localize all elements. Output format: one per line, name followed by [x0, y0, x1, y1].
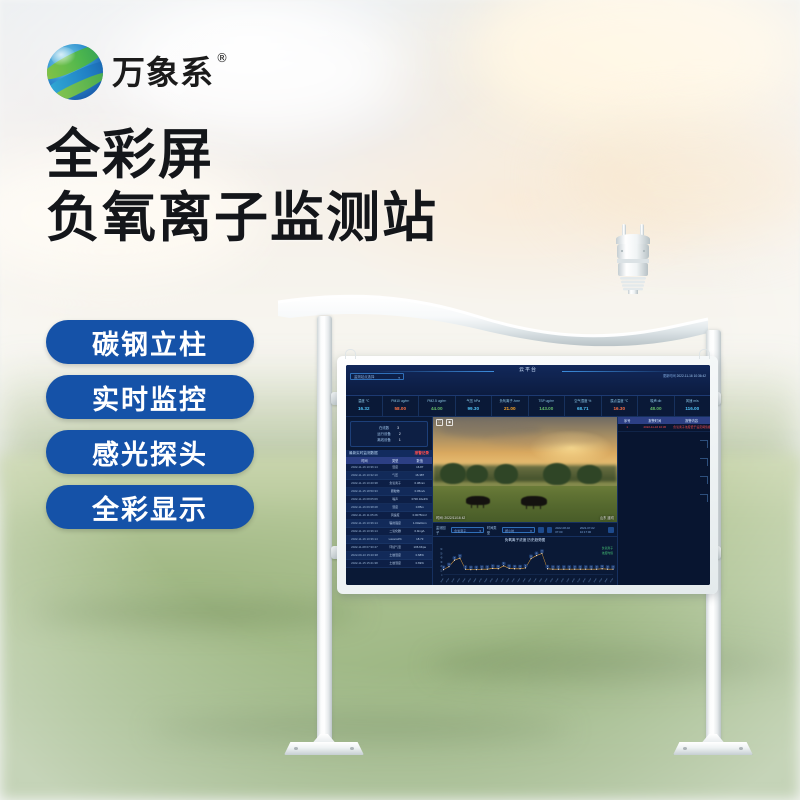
svg-text:01:00: 01:00 [577, 578, 580, 583]
alarm-panel: 序号报警时间报警内容 12022-11-16 10:36负氧离子浓度低于设定阈值… [617, 417, 710, 585]
svg-text:39: 39 [459, 555, 460, 557]
svg-text:34: 34 [454, 557, 455, 559]
svg-text:13: 13 [612, 566, 613, 568]
monitoring-station-product: 云平台 监测站点选择 ▾ 更新时间 2022-11-16 10:36:42 温度… [0, 0, 800, 800]
svg-text:16: 16 [525, 565, 526, 567]
svg-text:04:00: 04:00 [463, 578, 466, 583]
table-cell: 辐射强度 [383, 521, 408, 526]
metric-cell: 风速 m/s116.00 [675, 396, 711, 416]
table-row[interactable]: 2022-11-16 09:38:28湿度0.85m [346, 504, 432, 512]
svg-text:06:00: 06:00 [605, 578, 608, 583]
device-stats-box: 在线数3运行设备2离线设备1 [350, 421, 428, 447]
cow-silhouette [521, 496, 547, 507]
svg-text:06:00: 06:00 [473, 578, 476, 583]
svg-text:07:00: 07:00 [610, 578, 613, 583]
table-cell: 颗粒物 [383, 489, 408, 494]
svg-text:13: 13 [580, 566, 581, 568]
table-row[interactable]: 2022-11-16 10:36:14辐射强度1.03a0mm [346, 520, 432, 528]
log-table-columns: 时间类型数值 [346, 457, 432, 464]
legend-entry: 浓度均值 [602, 551, 613, 555]
svg-text:38: 38 [530, 556, 531, 558]
dashboard-body: 在线数3运行设备2离线设备1 最新实时监测数据 报警记录 时间类型数值 2022… [346, 417, 710, 585]
table-cell: 2022-11-16 10:36:14 [346, 521, 383, 526]
alarm-cell: 1 [618, 425, 636, 430]
metric-cell: 温度 ℃16.32 [346, 396, 383, 416]
svg-text:14: 14 [547, 566, 548, 568]
metric-cell: PM2.5 ug/m³44.00 [419, 396, 456, 416]
frame-hook [699, 349, 710, 359]
svg-text:50: 50 [541, 551, 542, 553]
fullscreen-icon[interactable]: ⛶ [436, 419, 443, 426]
chart-title: 负氧离子浓度 历史趋势图 [433, 537, 617, 544]
stat-row: 离线设备1 [353, 437, 425, 443]
svg-text:05:00: 05:00 [468, 578, 471, 583]
column-header: 数值 [407, 458, 432, 463]
table-cell: 16.87 [407, 465, 432, 470]
table-cell: 2022-11-15 18:50:33 [346, 489, 383, 494]
svg-text:22:00: 22:00 [561, 578, 564, 583]
table-row[interactable]: 2022-11-16 10:36:14温度16.87 [346, 464, 432, 472]
table-cell: 0.0075Cm² [407, 513, 432, 518]
product-marketing-image: 万象系® 全彩屏 负氧离子监测站 碳钢立柱 实时监控 感光探头 全彩显示 [0, 0, 800, 800]
svg-text:01:00: 01:00 [446, 578, 449, 583]
table-cell: 土壤湿度 [383, 561, 408, 566]
left-panel: 在线数3运行设备2离线设备1 最新实时监测数据 报警记录 时间类型数值 2022… [346, 417, 433, 585]
chart-legend: 负氧离子浓度均值 [602, 546, 613, 555]
chart-end-date[interactable]: 2022-07-02 10:17:00 [580, 526, 605, 534]
station-select[interactable]: 监测站点选择 ▾ [350, 373, 404, 380]
table-cell: 2022-11-16 10:40:38 [346, 481, 383, 486]
svg-text:13: 13 [563, 566, 564, 568]
carbon-steel-post-left [317, 316, 332, 746]
alarm-empty-area [618, 432, 710, 585]
metric-value: 58.00 [383, 404, 419, 413]
svg-text:0: 0 [441, 575, 443, 577]
table-cell: 负氧离子 [383, 481, 408, 486]
table-cell: 2022-11-16 08:05:09 [346, 497, 383, 502]
download-icon[interactable] [547, 527, 553, 533]
live-camera-feed[interactable]: ⛶ ◉ 时间: 2022/11/16 42 山东 潍坊 [433, 417, 617, 522]
log-panel-title: 最新实时监测数据 [349, 451, 378, 456]
metric-value: 16.30 [602, 404, 638, 413]
table-cell: 2022-09-13 15:20:38 [346, 553, 383, 558]
alarm-table-body[interactable]: 12022-11-16 10:36负氧离子浓度低于设定阈值报警 [618, 424, 710, 432]
led-display-frame: 云平台 监测站点选择 ▾ 更新时间 2022-11-16 10:36:42 温度… [337, 356, 718, 594]
table-cell: 二氧化碳 [383, 529, 408, 534]
query-button[interactable] [608, 527, 614, 533]
table-cell: 2022-11-16 10:36:14 [346, 465, 383, 470]
dashboard-title: 云平台 [346, 366, 710, 373]
svg-text:21:00: 21:00 [555, 578, 558, 583]
alarm-table-columns: 序号报警时间报警内容 [618, 417, 710, 424]
svg-text:14: 14 [498, 566, 499, 568]
table-cell: 2022-11-16 11:05:26 [346, 513, 383, 518]
svg-text:09:00: 09:00 [490, 578, 493, 583]
metric-cell: 气压 hPa99.30 [456, 396, 493, 416]
chevron-down-icon: ▾ [479, 528, 481, 534]
ultrasonic-weather-sensor-icon [604, 222, 662, 294]
table-row[interactable]: 2022-11-16 10:32:10气压16.387 [346, 472, 432, 480]
svg-text:03:00: 03:00 [588, 578, 591, 583]
period-label: 时间类型 [487, 525, 499, 535]
alarm-cell: 2022-11-16 10:36 [636, 425, 673, 430]
table-cell: voice/s2% [383, 537, 408, 542]
table-view-icon[interactable] [538, 527, 544, 533]
table-cell: 气压 [383, 473, 408, 478]
svg-text:13: 13 [607, 566, 608, 568]
svg-text:50: 50 [440, 553, 442, 555]
table-cell: 106.6Kpa [407, 545, 432, 550]
table-cell: 16.387 [407, 473, 432, 478]
svg-text:14: 14 [519, 566, 520, 568]
svg-text:13: 13 [574, 566, 575, 568]
cow-silhouette [466, 496, 490, 505]
metric-strip: 温度 ℃16.32PM10 ug/m³58.00PM2.5 ug/m³44.00… [346, 396, 710, 417]
svg-text:60: 60 [440, 549, 442, 551]
table-cell: 风速度 [383, 513, 408, 518]
svg-text:23:00: 23:00 [566, 578, 569, 583]
svg-text:13: 13 [487, 566, 488, 568]
table-cell: 2022-11-16 09:38:28 [346, 505, 383, 510]
table-cell: 2022-11-15 15:41:38 [346, 561, 383, 566]
metric-value: 48.00 [638, 404, 674, 413]
column-header: 时间 [346, 458, 383, 463]
table-cell: 2022-11-16 10:32:10 [346, 473, 383, 478]
metric-value: 116.00 [675, 404, 711, 413]
metric-value: 143.00 [529, 404, 565, 413]
svg-text:11:00: 11:00 [501, 578, 504, 583]
log-table-body[interactable]: 2022-11-16 10:36:14温度16.872022-11-16 10:… [346, 464, 432, 585]
period-select[interactable]: 按小时▾ [502, 527, 535, 533]
svg-text:10: 10 [440, 570, 442, 572]
factor-label: 监测因子 [436, 525, 448, 535]
flange-base-plate-left [284, 734, 364, 756]
log-panel-header: 最新实时监测数据 报警记录 [346, 450, 432, 457]
chart-start-date[interactable]: 2022-08-02 07:00 [555, 526, 577, 534]
wave-canopy [276, 286, 710, 352]
svg-text:45: 45 [536, 553, 537, 555]
metric-value: 44.00 [419, 404, 455, 413]
svg-text:08:00: 08:00 [484, 578, 487, 583]
table-cell: 0.85m [407, 505, 432, 510]
table-row[interactable]: 2022-11-16 11:05:26风速度0.0075Cm² [346, 512, 432, 520]
svg-text:17:00: 17:00 [534, 578, 537, 583]
svg-text:02:00: 02:00 [452, 578, 455, 583]
table-cell: 噪声 [383, 497, 408, 502]
svg-text:00:00: 00:00 [572, 578, 575, 583]
svg-text:14: 14 [601, 566, 602, 568]
table-cell: 土壤温度 [383, 553, 408, 558]
update-timestamp: 更新时间 2022-11-16 10:36:42 [663, 373, 706, 378]
table-cell: 18.73 [407, 537, 432, 542]
metric-value: 99.30 [456, 404, 492, 413]
table-row[interactable]: 2022-11-15 18:50:33颗粒物0.05m/s [346, 488, 432, 496]
metric-cell: PM10 ug/m³58.00 [383, 396, 420, 416]
metric-cell: TSP ug/m³143.00 [529, 396, 566, 416]
svg-text:13: 13 [552, 566, 553, 568]
snapshot-icon[interactable]: ◉ [446, 419, 453, 426]
table-row[interactable]: 2022-11-16 08:05:09噪声0730.16e3% [346, 496, 432, 504]
svg-text:30: 30 [440, 562, 442, 564]
svg-text:04:00: 04:00 [594, 578, 597, 583]
svg-text:00:00: 00:00 [441, 578, 444, 583]
chart-plot-area: 60504030201001200:001901:003402:003903:0… [433, 544, 617, 585]
svg-text:15:00: 15:00 [523, 578, 526, 583]
column-header: 报警内容 [673, 418, 710, 423]
svg-text:13: 13 [590, 566, 591, 568]
metric-cell: 负氧离子 /cm³21.00 [492, 396, 529, 416]
table-cell: 环境气温 [383, 545, 408, 550]
svg-text:21: 21 [503, 563, 504, 565]
dashboard-header: 云平台 监测站点选择 ▾ 更新时间 2022-11-16 10:36:42 [346, 365, 710, 396]
alarm-cell: 负氧离子浓度低于设定阈值报警 [673, 425, 710, 430]
svg-text:02:00: 02:00 [583, 578, 586, 583]
chevron-down-icon: ▾ [530, 528, 532, 534]
table-cell: 湿度 [383, 505, 408, 510]
table-cell: 0.38mm [407, 481, 432, 486]
table-cell: 0.68% [407, 553, 432, 558]
svg-text:18:00: 18:00 [539, 578, 542, 583]
table-cell: 0.05m/s [407, 489, 432, 494]
table-cell: 2022-11-08 07:30:47 [346, 545, 383, 550]
center-panel: ⛶ ◉ 时间: 2022/11/16 42 山东 潍坊 监测因子 负氧离子▾ [433, 417, 617, 585]
table-row[interactable]: 2022-11-16 10:36:14voice/s2%18.73 [346, 536, 432, 544]
table-cell: 0730.16e3% [407, 497, 432, 502]
table-cell: 2022-11-16 10:36:14 [346, 537, 383, 542]
svg-text:15: 15 [492, 566, 493, 568]
svg-text:15: 15 [508, 566, 509, 568]
svg-text:13: 13 [596, 566, 597, 568]
metric-value: 21.00 [492, 404, 528, 413]
video-watermark: 山东 潍坊 [600, 515, 614, 520]
svg-text:12: 12 [470, 567, 471, 569]
table-row[interactable]: 2022-11-08 07:30:47环境气温106.6Kpa [346, 544, 432, 552]
trend-chart-panel: 监测因子 负氧离子▾ 时间类型 按小时▾ [433, 522, 617, 585]
alarm-row[interactable]: 12022-11-16 10:36负氧离子浓度低于设定阈值报警 [618, 424, 710, 432]
svg-text:12: 12 [476, 567, 477, 569]
svg-text:13: 13 [569, 566, 570, 568]
svg-text:03:00: 03:00 [457, 578, 460, 583]
metric-value: 68.71 [565, 404, 601, 413]
svg-text:13:00: 13:00 [512, 578, 515, 583]
chart-toolbar: 监测因子 负氧离子▾ 时间类型 按小时▾ [433, 523, 617, 537]
svg-text:05:00: 05:00 [599, 578, 602, 583]
factor-select[interactable]: 负氧离子▾ [451, 527, 484, 533]
svg-text:13: 13 [558, 566, 559, 568]
column-header: 报警时间 [636, 418, 673, 423]
column-header: 类型 [383, 458, 408, 463]
video-timestamp: 时间: 2022/11/16 42 [436, 515, 465, 520]
svg-text:20:00: 20:00 [550, 578, 553, 583]
svg-text:12:00: 12:00 [506, 578, 509, 583]
video-controls[interactable]: ⛶ ◉ [436, 419, 453, 426]
table-row[interactable]: 2022-09-13 15:20:38土壤温度0.68% [346, 552, 432, 560]
svg-text:07:00: 07:00 [479, 578, 482, 583]
table-row[interactable]: 2022-11-15 15:41:38土壤湿度0.69% [346, 560, 432, 568]
svg-text:14:00: 14:00 [517, 578, 520, 583]
table-cell: 2022-11-16 10:36:14 [346, 529, 383, 534]
svg-text:13: 13 [481, 566, 482, 568]
svg-text:12: 12 [443, 567, 444, 569]
table-cell: 温度 [383, 465, 408, 470]
column-header: 序号 [618, 418, 636, 423]
dashboard-screen[interactable]: 云平台 监测站点选择 ▾ 更新时间 2022-11-16 10:36:42 温度… [346, 365, 710, 585]
metric-cell: 空气湿度 %68.71 [565, 396, 602, 416]
svg-text:16:00: 16:00 [528, 578, 531, 583]
frame-hook [345, 349, 356, 359]
svg-text:40: 40 [440, 558, 442, 560]
chevron-down-icon: ▾ [398, 375, 400, 382]
svg-text:13: 13 [585, 566, 586, 568]
table-cell: 0.9mg/L [407, 529, 432, 534]
table-row[interactable]: 2022-11-16 10:36:14二氧化碳0.9mg/L [346, 528, 432, 536]
svg-text:19:00: 19:00 [545, 578, 548, 583]
flange-base-plate-right [673, 734, 753, 756]
svg-text:14: 14 [514, 566, 515, 568]
alert-records-label[interactable]: 报警记录 [415, 451, 429, 456]
table-cell: 1.03a0mm [407, 521, 432, 526]
svg-text:19: 19 [448, 564, 449, 566]
chart-tool-icons[interactable]: 2022-08-02 07:00 2022-07-02 10:17:00 [538, 526, 614, 534]
metric-cell: 噪声 db48.00 [638, 396, 675, 416]
metric-value: 16.32 [346, 404, 382, 413]
table-cell: 0.69% [407, 561, 432, 566]
metric-cell: 露点温度 ℃16.30 [602, 396, 639, 416]
legend-entry: 负氧离子 [602, 546, 613, 550]
svg-text:10:00: 10:00 [495, 578, 498, 583]
svg-text:13: 13 [465, 566, 466, 568]
table-row[interactable]: 2022-11-16 10:40:38负氧离子0.38mm [346, 480, 432, 488]
